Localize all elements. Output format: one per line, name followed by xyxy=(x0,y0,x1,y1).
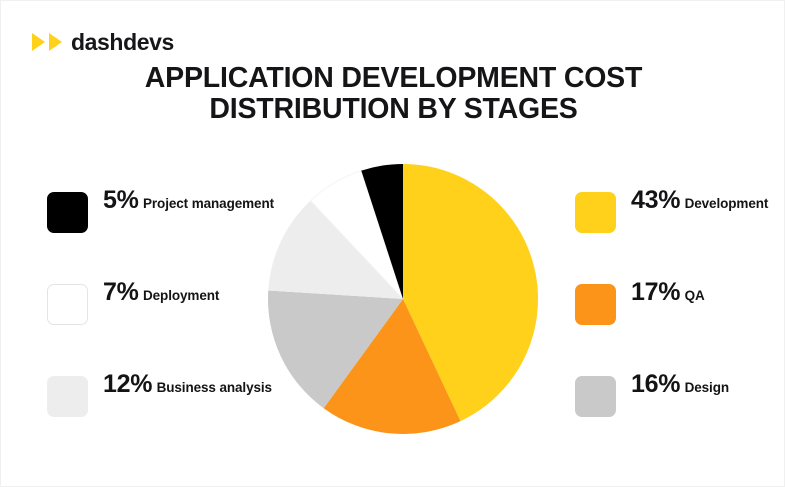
page-title: APPLICATION DEVELOPMENT COST DISTRIBUTIO… xyxy=(1,63,785,125)
legend-percent-deployment: 7% xyxy=(103,278,139,306)
legend-item-development[interactable]: 43% Development xyxy=(575,187,775,243)
legend-label-qa: QA xyxy=(685,288,705,303)
legend-label-deployment: Deployment xyxy=(143,288,219,303)
pie-chart-svg xyxy=(268,164,538,434)
infographic-canvas: dashdevs APPLICATION DEVELOPMENT COST DI… xyxy=(0,0,785,487)
brand-logo[interactable]: dashdevs xyxy=(32,28,174,56)
page-title-line-1: APPLICATION DEVELOPMENT COST xyxy=(1,63,785,94)
legend-right: 43% Development 17% QA 16% Design xyxy=(575,187,775,427)
legend-swatch-development xyxy=(575,192,616,233)
brand-name: dashdevs xyxy=(71,31,174,54)
legend-item-deployment[interactable]: 7% Deployment xyxy=(47,279,287,335)
legend-item-business-analysis[interactable]: 12% Business analysis xyxy=(47,371,287,427)
legend-item-qa[interactable]: 17% QA xyxy=(575,279,775,335)
legend-swatch-project-management xyxy=(47,192,88,233)
legend-percent-design: 16% xyxy=(631,370,680,398)
legend-percent-business-analysis: 12% xyxy=(103,370,152,398)
legend-label-design: Design xyxy=(685,380,729,395)
legend-label-development: Development xyxy=(685,196,769,211)
legend-item-project-management[interactable]: 5% Project management xyxy=(47,187,287,243)
legend-swatch-qa xyxy=(575,284,616,325)
legend-label-business-analysis: Business analysis xyxy=(157,380,272,395)
legend-label-project-management: Project management xyxy=(143,196,274,211)
legend-item-design[interactable]: 16% Design xyxy=(575,371,775,427)
legend-percent-qa: 17% xyxy=(631,278,680,306)
legend-swatch-business-analysis xyxy=(47,376,88,417)
legend-swatch-deployment xyxy=(47,284,88,325)
pie-chart xyxy=(268,164,538,434)
double-triangle-play-icon xyxy=(32,33,62,51)
legend-swatch-design xyxy=(575,376,616,417)
page-title-line-2: DISTRIBUTION BY STAGES xyxy=(1,94,785,125)
legend-percent-project-management: 5% xyxy=(103,186,139,214)
legend-left: 5% Project management 7% Deployment 12% … xyxy=(47,187,287,427)
legend-percent-development: 43% xyxy=(631,186,680,214)
